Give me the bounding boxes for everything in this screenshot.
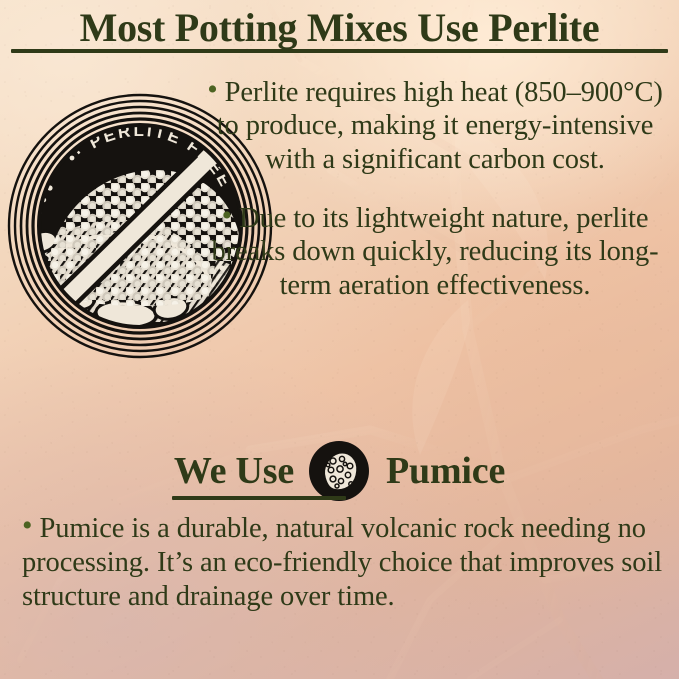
pumice-note-text: Pumice is a durable, natural volcanic ro…: [22, 513, 662, 612]
poster-canvas: Most Potting Mixes Use Perlite: [0, 0, 679, 679]
we-use-row: We Use Pumice: [0, 440, 679, 502]
page-title-text: Most Potting Mixes Use Perlite: [0, 7, 679, 49]
title-underline: [11, 49, 668, 53]
list-item-text: Perlite requires high heat (850–900°C) t…: [217, 77, 663, 175]
list-item: • Due to its lightweight nature, perlite…: [196, 202, 674, 302]
page-title: Most Potting Mixes Use Perlite: [0, 7, 679, 49]
bullet-dot-icon: •: [222, 199, 232, 232]
we-use-underline: [172, 496, 346, 500]
list-item: • Perlite requires high heat (850–900°C)…: [196, 76, 674, 176]
pumice-note: • Pumice is a durable, natural volcanic …: [22, 512, 662, 615]
bullet-dot-icon: •: [207, 73, 217, 106]
list-item-text: Due to its lightweight nature, perlite b…: [212, 203, 659, 301]
we-use-label: We Use: [174, 452, 294, 490]
pumice-material-label: Pumice: [386, 452, 505, 490]
pumice-rock-icon: [308, 440, 370, 502]
we-use-label-wrap: We Use: [174, 452, 294, 490]
bullet-dot-icon: •: [22, 509, 32, 542]
perlite-bullet-list: • Perlite requires high heat (850–900°C)…: [196, 76, 674, 302]
